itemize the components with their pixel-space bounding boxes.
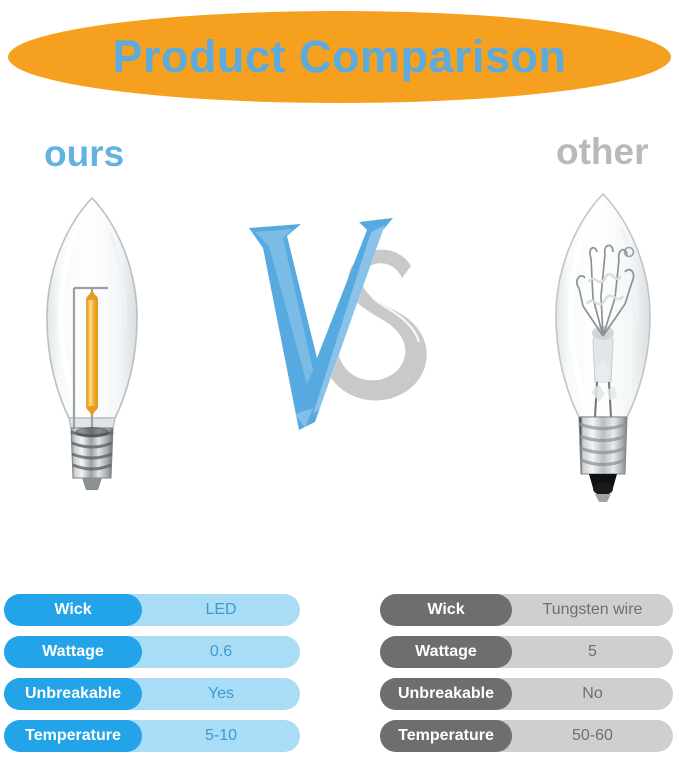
- spec-label: Wick: [380, 594, 512, 626]
- table-row: Temperature 5-10: [4, 720, 300, 752]
- table-row: Temperature 50-60: [380, 720, 673, 752]
- spec-label: Wick: [4, 594, 142, 626]
- other-label: other: [556, 131, 649, 173]
- spec-label: Wattage: [4, 636, 142, 668]
- spec-value: 5: [512, 636, 673, 668]
- ours-label: ours: [44, 133, 124, 175]
- spec-label: Temperature: [4, 720, 142, 752]
- table-row: Wick LED: [4, 594, 300, 626]
- spec-value: No: [512, 678, 673, 710]
- table-row: Unbreakable Yes: [4, 678, 300, 710]
- table-row: Wattage 0.6: [4, 636, 300, 668]
- spec-table-ours: Wick LED Wattage 0.6 Unbreakable Yes Tem…: [4, 594, 300, 762]
- spec-label: Wattage: [380, 636, 512, 668]
- spec-value: 0.6: [142, 636, 300, 668]
- spec-value: Tungsten wire: [512, 594, 673, 626]
- spec-label: Temperature: [380, 720, 512, 752]
- led-filament-bulb-icon: [22, 192, 162, 492]
- incandescent-bulb-icon: [533, 186, 673, 506]
- spec-value: 5-10: [142, 720, 300, 752]
- spec-label: Unbreakable: [4, 678, 142, 710]
- table-row: Wattage 5: [380, 636, 673, 668]
- table-row: Unbreakable No: [380, 678, 673, 710]
- spec-value: 50-60: [512, 720, 673, 752]
- spec-value: LED: [142, 594, 300, 626]
- page-title: Product Comparison: [8, 11, 671, 103]
- versus-icon: [243, 208, 443, 443]
- spec-label: Unbreakable: [380, 678, 512, 710]
- spec-table-other: Wick Tungsten wire Wattage 5 Unbreakable…: [380, 594, 673, 762]
- table-row: Wick Tungsten wire: [380, 594, 673, 626]
- spec-value: Yes: [142, 678, 300, 710]
